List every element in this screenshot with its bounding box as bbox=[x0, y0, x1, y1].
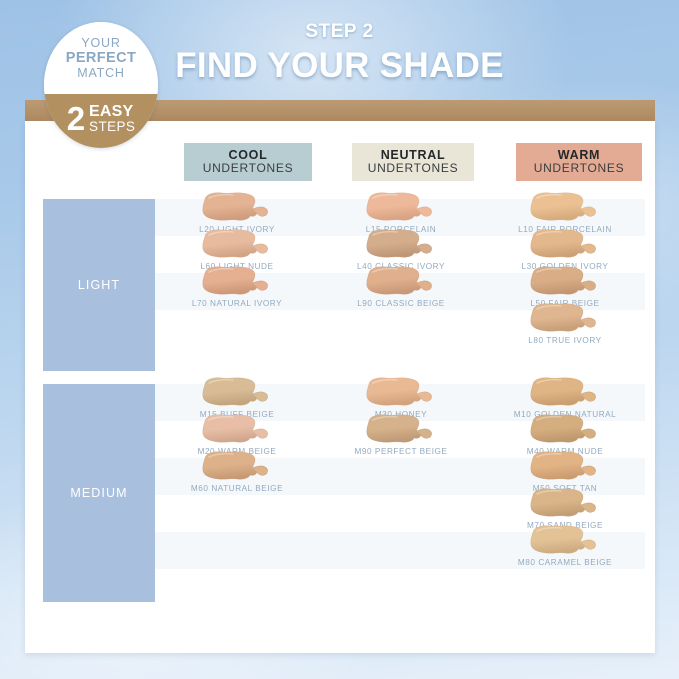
badge-line-perfect: PERFECT bbox=[66, 50, 136, 66]
shade-swatch-icon bbox=[523, 449, 607, 486]
shade-swatch-icon bbox=[359, 412, 443, 449]
column-title-cool: COOL bbox=[229, 148, 268, 162]
shade-cell-empty bbox=[155, 495, 319, 532]
shade-cell[interactable]: M60 NATURAL BEIGE bbox=[155, 458, 319, 495]
shade-cell[interactable]: M80 CARAMEL BEIGE bbox=[483, 532, 647, 569]
shade-name-label: L70 NATURAL IVORY bbox=[155, 299, 319, 308]
shade-swatch-icon bbox=[195, 264, 279, 301]
badge-word-easy: EASY bbox=[89, 104, 135, 120]
shade-swatch-icon bbox=[523, 523, 607, 560]
shade-cell[interactable]: M90 PERFECT BEIGE bbox=[319, 421, 483, 458]
shade-swatch-icon bbox=[359, 227, 443, 264]
shade-swatch-icon bbox=[359, 264, 443, 301]
badge-line-match: MATCH bbox=[77, 66, 125, 80]
tone-panel-light: LIGHT bbox=[43, 199, 155, 371]
shade-swatch-icon bbox=[195, 449, 279, 486]
badge-word-steps: STEPS bbox=[89, 120, 135, 134]
badge-step-number: 2 bbox=[67, 104, 85, 133]
column-title-warm: WARM bbox=[558, 148, 600, 162]
shade-name-label: M60 NATURAL BEIGE bbox=[155, 484, 319, 493]
shade-name-label: L80 TRUE IVORY bbox=[483, 336, 647, 345]
badge-line-your: YOUR bbox=[81, 36, 120, 50]
shade-grid-medium: M15 BUFF BEIGE M30 HONEY M10 GOLDEN NATU… bbox=[155, 384, 645, 569]
shade-swatch-icon bbox=[195, 190, 279, 227]
shade-cell[interactable]: L80 TRUE IVORY bbox=[483, 310, 647, 347]
shade-cell[interactable]: L90 CLASSIC BEIGE bbox=[319, 273, 483, 310]
shade-swatch-icon bbox=[523, 227, 607, 264]
column-subtitle-cool: UNDERTONES bbox=[203, 162, 294, 175]
column-header-warm: WARM UNDERTONES bbox=[516, 143, 642, 181]
shade-swatch-icon bbox=[523, 190, 607, 227]
badge-step-words: EASY STEPS bbox=[89, 104, 135, 134]
shade-cell[interactable]: L70 NATURAL IVORY bbox=[155, 273, 319, 310]
shade-swatch-icon bbox=[523, 264, 607, 301]
shade-cell-empty bbox=[319, 532, 483, 569]
shade-swatch-icon bbox=[195, 375, 279, 412]
shade-cell-empty bbox=[319, 310, 483, 347]
shade-swatch-icon bbox=[523, 301, 607, 338]
shade-name-label: L90 CLASSIC BEIGE bbox=[319, 299, 483, 308]
shade-cell-empty bbox=[319, 495, 483, 532]
shade-swatch-icon bbox=[195, 412, 279, 449]
shade-swatch-icon bbox=[523, 486, 607, 523]
column-subtitle-neutral: UNDERTONES bbox=[368, 162, 459, 175]
shade-name-label: M90 PERFECT BEIGE bbox=[319, 447, 483, 456]
badge-top-half: YOUR PERFECT MATCH bbox=[44, 22, 158, 94]
badge-bottom-half: 2 EASY STEPS bbox=[44, 94, 158, 148]
shade-swatch-icon bbox=[359, 190, 443, 227]
tone-panel-medium: MEDIUM bbox=[43, 384, 155, 602]
shade-cell-empty bbox=[155, 310, 319, 347]
shade-row: M80 CARAMEL BEIGE bbox=[155, 532, 645, 569]
column-subtitle-warm: UNDERTONES bbox=[534, 162, 625, 175]
column-header-cool: COOL UNDERTONES bbox=[184, 143, 312, 181]
shade-swatch-icon bbox=[195, 227, 279, 264]
tone-panel-label-medium: MEDIUM bbox=[70, 486, 127, 500]
tone-panel-label-light: LIGHT bbox=[78, 278, 120, 292]
shade-swatch-icon bbox=[359, 375, 443, 412]
shade-name-label: M80 CARAMEL BEIGE bbox=[483, 558, 647, 567]
shade-swatch-icon bbox=[523, 412, 607, 449]
shade-cell-empty bbox=[155, 532, 319, 569]
shade-cell-empty bbox=[319, 458, 483, 495]
column-header-neutral: NEUTRAL UNDERTONES bbox=[352, 143, 474, 181]
perfect-match-badge: YOUR PERFECT MATCH 2 EASY STEPS bbox=[44, 22, 158, 148]
column-title-neutral: NEUTRAL bbox=[381, 148, 446, 162]
shade-row: L80 TRUE IVORY bbox=[155, 310, 645, 347]
shade-grid-light: L20 LIGHT IVORY L15 PORCELAIN L10 FAIR P… bbox=[155, 199, 645, 347]
shade-swatch-icon bbox=[523, 375, 607, 412]
